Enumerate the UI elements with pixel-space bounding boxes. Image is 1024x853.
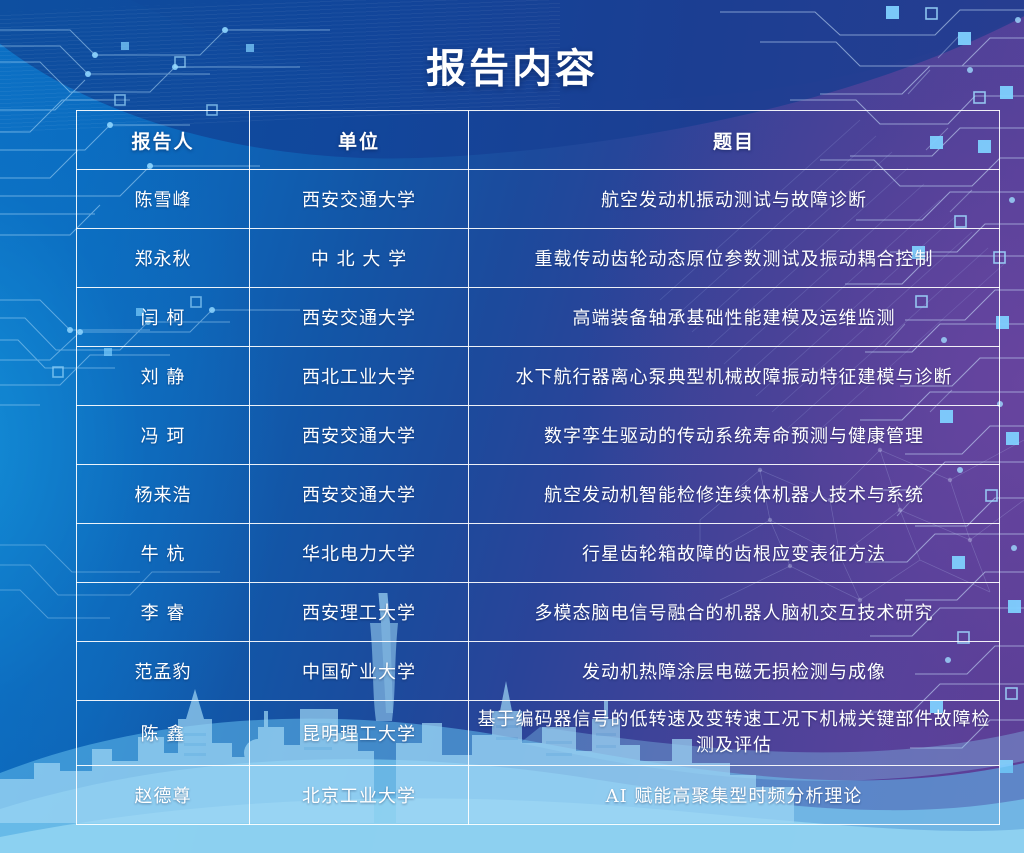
cell-speaker: 牛 杭	[77, 524, 250, 583]
cell-topic: 行星齿轮箱故障的齿根应变表征方法	[469, 524, 1000, 583]
cell-speaker: 郑永秋	[77, 229, 250, 288]
cell-topic: 数字孪生驱动的传动系统寿命预测与健康管理	[469, 406, 1000, 465]
column-header-speaker: 报告人	[77, 111, 250, 170]
cell-affiliation: 昆明理工大学	[250, 701, 469, 766]
cell-topic: AI 赋能高聚集型时频分析理论	[469, 766, 1000, 825]
table-body: 陈雪峰西安交通大学航空发动机振动测试与故障诊断郑永秋中 北 大 学重载传动齿轮动…	[77, 170, 1000, 825]
report-table-container: 报告人 单位 题目 陈雪峰西安交通大学航空发动机振动测试与故障诊断郑永秋中 北 …	[76, 110, 948, 825]
cell-topic: 高端装备轴承基础性能建模及运维监测	[469, 288, 1000, 347]
cell-topic: 航空发动机振动测试与故障诊断	[469, 170, 1000, 229]
cell-speaker: 范孟豹	[77, 642, 250, 701]
cell-speaker: 李 睿	[77, 583, 250, 642]
cell-affiliation: 西安交通大学	[250, 288, 469, 347]
table-row: 赵德尊北京工业大学AI 赋能高聚集型时频分析理论	[77, 766, 1000, 825]
table-row: 李 睿西安理工大学多模态脑电信号融合的机器人脑机交互技术研究	[77, 583, 1000, 642]
table-row: 闫 柯西安交通大学高端装备轴承基础性能建模及运维监测	[77, 288, 1000, 347]
cell-speaker: 陈雪峰	[77, 170, 250, 229]
table-row: 冯 珂西安交通大学数字孪生驱动的传动系统寿命预测与健康管理	[77, 406, 1000, 465]
slide-canvas: 报告内容 报告人 单位 题目 陈雪峰西安交通大学航空发动机振动测试与故障诊断郑永…	[0, 0, 1024, 853]
report-table: 报告人 单位 题目 陈雪峰西安交通大学航空发动机振动测试与故障诊断郑永秋中 北 …	[76, 110, 1000, 825]
cell-topic: 水下航行器离心泵典型机械故障振动特征建模与诊断	[469, 347, 1000, 406]
cell-affiliation: 西安交通大学	[250, 406, 469, 465]
cell-topic: 多模态脑电信号融合的机器人脑机交互技术研究	[469, 583, 1000, 642]
cell-speaker: 闫 柯	[77, 288, 250, 347]
cell-speaker: 冯 珂	[77, 406, 250, 465]
cell-topic: 重载传动齿轮动态原位参数测试及振动耦合控制	[469, 229, 1000, 288]
cell-affiliation: 西安交通大学	[250, 465, 469, 524]
cell-affiliation: 北京工业大学	[250, 766, 469, 825]
cell-topic: 航空发动机智能检修连续体机器人技术与系统	[469, 465, 1000, 524]
cell-topic: 发动机热障涂层电磁无损检测与成像	[469, 642, 1000, 701]
table-row: 牛 杭华北电力大学行星齿轮箱故障的齿根应变表征方法	[77, 524, 1000, 583]
table-row: 杨来浩西安交通大学航空发动机智能检修连续体机器人技术与系统	[77, 465, 1000, 524]
cell-affiliation: 中国矿业大学	[250, 642, 469, 701]
cell-affiliation: 西北工业大学	[250, 347, 469, 406]
cell-affiliation: 西安交通大学	[250, 170, 469, 229]
cell-speaker: 刘 静	[77, 347, 250, 406]
cell-speaker: 杨来浩	[77, 465, 250, 524]
column-header-affiliation: 单位	[250, 111, 469, 170]
cell-affiliation: 西安理工大学	[250, 583, 469, 642]
page-title: 报告内容	[0, 36, 1024, 94]
table-row: 陈 鑫昆明理工大学基于编码器信号的低转速及变转速工况下机械关键部件故障检测及评估	[77, 701, 1000, 766]
table-row: 郑永秋中 北 大 学重载传动齿轮动态原位参数测试及振动耦合控制	[77, 229, 1000, 288]
table-header: 报告人 单位 题目	[77, 111, 1000, 170]
cell-topic: 基于编码器信号的低转速及变转速工况下机械关键部件故障检测及评估	[469, 701, 1000, 766]
table-row: 陈雪峰西安交通大学航空发动机振动测试与故障诊断	[77, 170, 1000, 229]
column-header-topic: 题目	[469, 111, 1000, 170]
cell-affiliation: 华北电力大学	[250, 524, 469, 583]
cell-speaker: 赵德尊	[77, 766, 250, 825]
cell-speaker: 陈 鑫	[77, 701, 250, 766]
cell-affiliation: 中 北 大 学	[250, 229, 469, 288]
table-row: 刘 静西北工业大学水下航行器离心泵典型机械故障振动特征建模与诊断	[77, 347, 1000, 406]
table-row: 范孟豹中国矿业大学发动机热障涂层电磁无损检测与成像	[77, 642, 1000, 701]
table-header-row: 报告人 单位 题目	[77, 111, 1000, 170]
